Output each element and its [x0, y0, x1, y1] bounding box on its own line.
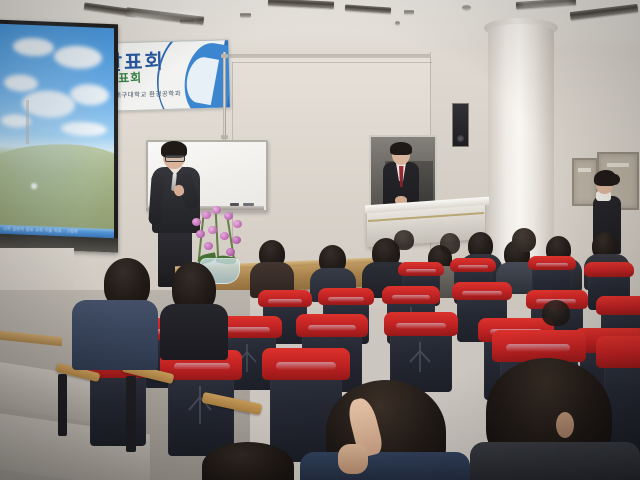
wall-seam-upper [232, 62, 432, 63]
banner-organization: : 대구대학교 환경공학과 [110, 88, 181, 100]
orchid-flower [233, 220, 242, 228]
ear [556, 412, 574, 438]
seat-cushion [596, 336, 640, 368]
glasses-icon [165, 155, 185, 162]
ceiling-vent-1 [180, 19, 194, 23]
seat-cushion [584, 262, 634, 277]
orchid-flower [226, 248, 235, 256]
seat-back-logo-icon [406, 340, 434, 374]
seat-highlight [308, 325, 356, 331]
audience-head [394, 230, 414, 250]
ceiling-speaker-dome [462, 5, 471, 10]
notice-slip [607, 163, 629, 167]
ceiling-sensor [395, 21, 400, 25]
cloud [54, 45, 102, 70]
wrist [338, 444, 368, 474]
hair-bun [609, 174, 620, 185]
audience-head [440, 233, 460, 254]
orchid-flower [204, 242, 213, 250]
seat-back-logo-icon [184, 384, 216, 426]
orchid-flower [224, 212, 233, 220]
seat-highlight [328, 297, 364, 302]
speaker-cone-icon [457, 135, 464, 142]
seat-highlight [462, 291, 502, 296]
cloud [4, 74, 39, 92]
seat-highlight [536, 263, 568, 267]
seat-highlight [268, 299, 302, 304]
seat-highlight [226, 327, 270, 333]
ceiling-light-glow-1 [130, 13, 200, 17]
seat-highlight [392, 295, 430, 300]
projected-desktop-image [0, 24, 114, 238]
leg-separation-shadow [26, 100, 29, 144]
cloud [22, 90, 75, 119]
seat-highlight [276, 362, 336, 370]
notice-slip [578, 168, 591, 172]
audience-head [542, 300, 570, 326]
auditorium-photo: 발표회 발표회 : 대구대학교 환경공학과 시작 일본어 정보 교육 기술 자료… [0, 0, 640, 480]
foreground-audience-body [470, 442, 640, 480]
seat-highlight [458, 265, 488, 269]
orchid-flower [192, 218, 201, 226]
orchid-flower [232, 236, 241, 244]
seat-cushion [596, 296, 640, 315]
wall-mounted-speaker [452, 103, 469, 147]
grass-hill [0, 141, 114, 238]
orchid-flower [196, 230, 205, 238]
audience-body [160, 304, 228, 360]
wall-pole [223, 52, 226, 142]
cloud [70, 83, 109, 106]
pole-bracket-bottom [221, 135, 228, 139]
orchid-flower [202, 211, 211, 219]
audience-head [512, 228, 536, 252]
pole-bracket-top [221, 54, 228, 58]
seat-highlight [406, 269, 436, 273]
orchid-flower [212, 206, 221, 214]
seat-highlight [506, 344, 570, 352]
audience-body [72, 300, 158, 370]
armrest-post [126, 376, 136, 452]
armrest-post [58, 374, 67, 436]
projection-screen: 시작 일본어 정보 교육 기술 자료 - 그림판 [0, 20, 118, 253]
event-banner: 발표회 발표회 : 대구대학교 환경공학과 [100, 39, 231, 112]
orchid-flower [208, 226, 217, 234]
cloud [13, 37, 54, 57]
hair [390, 142, 412, 155]
seat-highlight [174, 363, 230, 370]
foreground-audience-body [300, 452, 470, 480]
orchid-flower [220, 232, 229, 240]
cloud [61, 121, 107, 137]
cursor-dot [31, 183, 37, 190]
ceiling-vent-2 [240, 13, 251, 17]
ceiling-light-glow-2 [520, 2, 572, 6]
seat-highlight [396, 323, 446, 329]
ceiling-vent-3 [404, 10, 414, 14]
